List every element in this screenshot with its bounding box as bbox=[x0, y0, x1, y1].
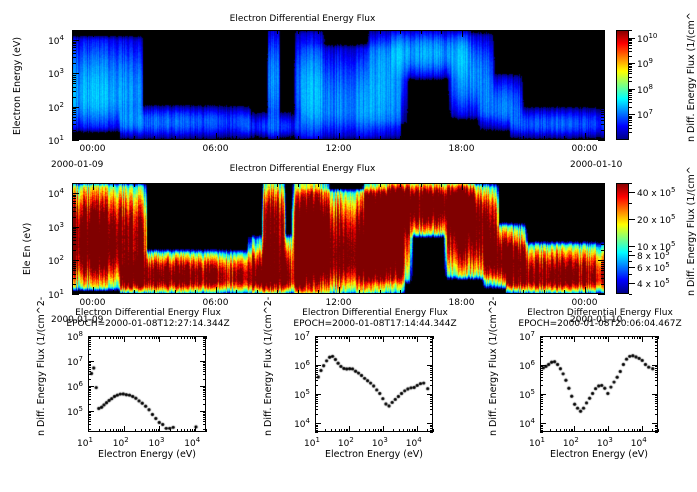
axis-tick bbox=[441, 136, 442, 140]
axis-tick bbox=[629, 203, 632, 204]
axis-tick bbox=[203, 412, 206, 413]
axis-tick bbox=[634, 336, 635, 339]
axis-tick bbox=[603, 429, 604, 432]
axis-tick bbox=[629, 71, 632, 72]
axis-tick bbox=[175, 183, 176, 187]
axis-tick bbox=[598, 294, 605, 295]
axis-tick bbox=[601, 284, 605, 285]
axis-tick bbox=[601, 110, 605, 111]
axis-tick bbox=[430, 345, 433, 346]
axis-tick bbox=[72, 124, 76, 125]
axis-tick bbox=[655, 366, 658, 367]
x-axis-time-label: 00:00 bbox=[77, 144, 109, 154]
axis-tick bbox=[629, 43, 632, 44]
axis-tick bbox=[634, 429, 635, 432]
axis-tick bbox=[113, 136, 114, 140]
axis-tick bbox=[315, 345, 318, 346]
axis-tick bbox=[564, 136, 565, 140]
axis-tick bbox=[629, 261, 632, 262]
axis-tick bbox=[339, 133, 340, 140]
axis-tick bbox=[601, 201, 605, 202]
axis-tick bbox=[655, 414, 658, 415]
axis-tick bbox=[72, 260, 79, 261]
axis-tick bbox=[105, 336, 106, 339]
axis-tick bbox=[315, 414, 318, 415]
axis-tick bbox=[430, 366, 433, 367]
axis-tick bbox=[203, 371, 206, 372]
axis-tick-label: 102 bbox=[48, 101, 64, 114]
axis-tick bbox=[203, 365, 206, 366]
axis-tick bbox=[601, 91, 605, 92]
axis-tick bbox=[540, 403, 543, 404]
axis-tick bbox=[315, 356, 318, 357]
axis-tick bbox=[72, 237, 76, 238]
axis-tick bbox=[540, 385, 543, 386]
axis-tick bbox=[540, 368, 543, 369]
axis-tick bbox=[134, 290, 135, 294]
axis-tick bbox=[72, 110, 76, 111]
axis-tick bbox=[503, 30, 504, 34]
axis-tick bbox=[629, 99, 632, 100]
axis-tick bbox=[564, 30, 565, 34]
axis-tick bbox=[564, 429, 565, 432]
axis-tick bbox=[655, 341, 658, 342]
axis-tick bbox=[540, 406, 543, 407]
axis-tick bbox=[421, 183, 422, 187]
axis-tick bbox=[383, 336, 384, 342]
axis-tick bbox=[88, 342, 91, 343]
axis-tick bbox=[141, 336, 142, 339]
axis-tick bbox=[564, 183, 565, 187]
axis-tick bbox=[629, 219, 632, 220]
axis-tick bbox=[550, 336, 551, 339]
axis-tick bbox=[427, 429, 428, 432]
axis-tick bbox=[421, 30, 422, 34]
axis-tick bbox=[601, 117, 605, 118]
axis-tick bbox=[544, 290, 545, 294]
axis-tick bbox=[629, 132, 632, 133]
axis-tick bbox=[156, 336, 157, 339]
axis-tick bbox=[655, 432, 658, 433]
axis-tick bbox=[315, 395, 318, 396]
x-axis-tick-label: 101 bbox=[304, 436, 320, 449]
axis-tick bbox=[407, 429, 408, 432]
axis-tick bbox=[603, 336, 604, 339]
axis-tick bbox=[601, 198, 605, 199]
axis-tick bbox=[318, 183, 319, 187]
axis-tick bbox=[184, 336, 185, 339]
axis-tick bbox=[93, 183, 94, 190]
axis-tick-label: 103 bbox=[48, 67, 64, 80]
axis-tick bbox=[540, 399, 543, 400]
axis-tick bbox=[601, 230, 605, 231]
axis-tick bbox=[190, 429, 191, 432]
axis-tick bbox=[409, 336, 410, 339]
axis-tick bbox=[550, 429, 551, 432]
axis-tick bbox=[629, 118, 632, 119]
axis-tick bbox=[236, 136, 237, 140]
axis-tick bbox=[177, 429, 178, 432]
axis-tick bbox=[105, 429, 106, 432]
axis-tick bbox=[203, 389, 206, 390]
axis-tick bbox=[629, 274, 632, 275]
axis-tick bbox=[72, 217, 76, 218]
axis-tick bbox=[503, 183, 504, 187]
axis-tick-label: 104 bbox=[48, 187, 64, 200]
axis-tick bbox=[629, 48, 632, 49]
axis-tick bbox=[601, 234, 605, 235]
axis-tick bbox=[375, 336, 376, 339]
axis-tick bbox=[430, 401, 433, 402]
axis-tick bbox=[601, 228, 605, 229]
axis-tick bbox=[72, 87, 76, 88]
axis-tick bbox=[462, 287, 463, 294]
axis-tick bbox=[523, 136, 524, 140]
x-axis-tick-label: 103 bbox=[597, 436, 613, 449]
axis-tick bbox=[540, 342, 543, 343]
axis-tick bbox=[618, 336, 619, 339]
mid-spectrogram-plot bbox=[72, 183, 605, 294]
axis-tick bbox=[601, 262, 605, 263]
axis-tick bbox=[203, 414, 206, 415]
axis-tick bbox=[462, 133, 463, 140]
axis-tick bbox=[72, 278, 76, 279]
axis-tick bbox=[629, 117, 632, 118]
axis-tick bbox=[540, 372, 543, 373]
axis-tick bbox=[194, 336, 195, 339]
axis-tick bbox=[624, 429, 625, 432]
axis-tick bbox=[88, 424, 91, 425]
axis-tick bbox=[601, 112, 605, 113]
axis-tick bbox=[72, 107, 79, 108]
axis-tick bbox=[181, 429, 182, 432]
axis-tick bbox=[393, 429, 394, 432]
axis-tick bbox=[154, 183, 155, 187]
axis-tick bbox=[560, 429, 561, 432]
axis-tick bbox=[637, 429, 638, 432]
axis-tick bbox=[601, 203, 605, 204]
axis-tick bbox=[335, 336, 336, 339]
axis-tick bbox=[315, 385, 318, 386]
axis-tick-label: 106 bbox=[294, 359, 310, 372]
axis-tick bbox=[430, 342, 433, 343]
axis-tick bbox=[72, 244, 76, 245]
axis-tick-label: 107 bbox=[637, 108, 653, 121]
axis-tick bbox=[154, 429, 155, 432]
axis-tick bbox=[430, 370, 433, 371]
axis-tick bbox=[629, 125, 632, 126]
axis-tick bbox=[652, 336, 653, 339]
top-spectrogram-ylabel: Electron Energy (eV) bbox=[12, 37, 23, 135]
axis-tick bbox=[540, 414, 543, 415]
axis-tick bbox=[628, 336, 629, 339]
axis-tick bbox=[540, 426, 541, 432]
axis-tick bbox=[158, 336, 159, 339]
spectrum-ylabel: n Diff. Energy Flux (1/(cm^2- bbox=[263, 297, 274, 436]
axis-tick bbox=[381, 429, 382, 432]
axis-tick bbox=[430, 426, 433, 427]
axis-tick bbox=[417, 426, 418, 432]
axis-tick bbox=[430, 399, 433, 400]
axis-tick bbox=[624, 336, 625, 339]
axis-tick bbox=[349, 426, 350, 432]
axis-tick bbox=[655, 395, 658, 396]
axis-tick bbox=[175, 290, 176, 294]
axis-tick bbox=[72, 83, 76, 84]
axis-tick bbox=[124, 336, 125, 342]
axis-tick bbox=[601, 45, 605, 46]
axis-tick bbox=[93, 30, 94, 37]
x-axis-tick-label: 104 bbox=[184, 436, 200, 449]
axis-tick bbox=[608, 426, 609, 432]
axis-tick bbox=[380, 30, 381, 34]
axis-tick bbox=[154, 136, 155, 140]
axis-tick-label: 108 bbox=[637, 83, 653, 96]
axis-tick bbox=[658, 336, 659, 339]
axis-tick bbox=[315, 368, 318, 369]
axis-tick bbox=[584, 336, 585, 339]
axis-tick bbox=[629, 255, 632, 256]
axis-tick bbox=[655, 348, 658, 349]
axis-tick bbox=[601, 57, 605, 58]
axis-tick bbox=[598, 260, 605, 261]
axis-tick-label: 107 bbox=[294, 330, 310, 343]
axis-tick bbox=[118, 429, 119, 432]
axis-tick bbox=[601, 75, 605, 76]
axis-tick bbox=[430, 374, 433, 375]
axis-tick bbox=[655, 370, 658, 371]
axis-tick bbox=[359, 136, 360, 140]
axis-tick bbox=[93, 133, 94, 140]
axis-tick bbox=[365, 336, 366, 339]
axis-tick bbox=[315, 370, 318, 371]
axis-tick bbox=[72, 228, 76, 229]
axis-tick-label: 105 bbox=[294, 388, 310, 401]
axis-tick bbox=[203, 374, 206, 375]
axis-tick bbox=[629, 56, 632, 57]
axis-tick bbox=[72, 79, 76, 80]
x-axis-time-label: 06:00 bbox=[200, 144, 232, 154]
axis-tick bbox=[381, 336, 382, 339]
axis-tick bbox=[585, 183, 586, 190]
axis-tick bbox=[598, 140, 605, 141]
axis-tick bbox=[315, 366, 318, 367]
axis-tick-label: 102 bbox=[48, 254, 64, 267]
axis-tick bbox=[629, 128, 632, 129]
axis-tick bbox=[642, 426, 643, 432]
axis-tick bbox=[72, 266, 76, 267]
axis-tick bbox=[540, 370, 543, 371]
axis-tick bbox=[380, 290, 381, 294]
axis-tick bbox=[655, 339, 658, 340]
axis-tick bbox=[629, 246, 632, 247]
x-axis-time-label: 06:00 bbox=[200, 298, 232, 308]
axis-tick bbox=[113, 30, 114, 34]
axis-tick bbox=[629, 183, 632, 184]
top-spectrogram-plot bbox=[72, 30, 605, 140]
axis-tick bbox=[430, 403, 433, 404]
axis-tick bbox=[120, 429, 121, 432]
axis-tick bbox=[88, 394, 91, 395]
axis-tick bbox=[598, 336, 599, 339]
axis-tick bbox=[629, 122, 632, 123]
axis-tick bbox=[257, 183, 258, 187]
axis-tick bbox=[601, 81, 605, 82]
axis-tick bbox=[655, 345, 658, 346]
axis-tick bbox=[88, 369, 91, 370]
axis-tick bbox=[277, 183, 278, 187]
axis-tick bbox=[88, 389, 91, 390]
axis-tick bbox=[88, 354, 91, 355]
x-axis-time-label: 00:00 bbox=[77, 298, 109, 308]
axis-tick bbox=[601, 130, 605, 131]
axis-tick bbox=[195, 426, 196, 432]
axis-tick bbox=[601, 244, 605, 245]
axis-tick bbox=[601, 207, 605, 208]
x-axis-time-label: 00:00 bbox=[569, 298, 601, 308]
axis-tick bbox=[88, 412, 91, 413]
axis-tick bbox=[601, 83, 605, 84]
axis-tick bbox=[257, 30, 258, 34]
axis-tick bbox=[556, 429, 557, 432]
axis-tick bbox=[88, 387, 91, 388]
axis-tick bbox=[203, 415, 206, 416]
axis-tick bbox=[658, 429, 659, 432]
mid-colorbar bbox=[616, 183, 629, 294]
axis-tick bbox=[601, 97, 605, 98]
axis-tick bbox=[629, 93, 632, 94]
axis-tick bbox=[203, 364, 206, 365]
axis-tick bbox=[72, 43, 76, 44]
spectrum-ylabel: n Diff. Energy Flux (1/(cm^2- bbox=[36, 297, 47, 436]
axis-tick bbox=[373, 429, 374, 432]
axis-tick bbox=[72, 112, 76, 113]
axis-tick bbox=[149, 336, 150, 339]
axis-tick bbox=[407, 336, 408, 339]
axis-tick bbox=[598, 73, 605, 74]
axis-tick bbox=[203, 419, 206, 420]
axis-tick bbox=[655, 356, 658, 357]
axis-tick bbox=[403, 336, 404, 339]
axis-tick bbox=[430, 341, 433, 342]
axis-tick bbox=[277, 30, 278, 34]
axis-tick bbox=[177, 336, 178, 339]
axis-tick bbox=[72, 130, 76, 131]
axis-tick bbox=[629, 77, 632, 78]
axis-tick bbox=[72, 195, 76, 196]
axis-tick bbox=[629, 30, 632, 31]
axis-tick bbox=[540, 397, 543, 398]
axis-tick bbox=[318, 290, 319, 294]
mid-spectrogram-title: Electron Differential Energy Flux bbox=[0, 164, 605, 174]
axis-tick bbox=[72, 97, 76, 98]
axis-tick bbox=[72, 203, 76, 204]
axis-tick bbox=[629, 81, 632, 82]
axis-tick bbox=[331, 429, 332, 432]
spectrum-xlabel: Electron Energy (eV) bbox=[316, 449, 432, 460]
axis-tick bbox=[629, 40, 632, 41]
axis-tick bbox=[88, 336, 89, 342]
axis-tick bbox=[122, 336, 123, 339]
axis-tick bbox=[430, 339, 433, 340]
axis-tick bbox=[257, 136, 258, 140]
axis-tick bbox=[359, 30, 360, 34]
axis-tick-label: 105 bbox=[67, 405, 83, 418]
axis-tick bbox=[601, 124, 605, 125]
axis-tick bbox=[606, 429, 607, 432]
axis-tick bbox=[187, 429, 188, 432]
axis-tick bbox=[598, 429, 599, 432]
axis-tick bbox=[601, 266, 605, 267]
axis-tick bbox=[655, 406, 658, 407]
axis-tick bbox=[124, 426, 125, 432]
axis-tick bbox=[72, 114, 76, 115]
axis-tick bbox=[72, 40, 79, 41]
axis-tick bbox=[118, 336, 119, 339]
axis-tick bbox=[430, 432, 433, 433]
axis-tick bbox=[566, 336, 567, 339]
axis-tick bbox=[629, 97, 632, 98]
axis-tick bbox=[383, 426, 384, 432]
axis-tick bbox=[315, 426, 316, 432]
axis-tick bbox=[88, 344, 91, 345]
axis-tick bbox=[399, 336, 400, 339]
axis-tick bbox=[181, 336, 182, 339]
axis-tick bbox=[72, 108, 76, 109]
axis-tick bbox=[482, 183, 483, 187]
axis-tick bbox=[88, 414, 91, 415]
axis-tick bbox=[359, 183, 360, 187]
axis-tick bbox=[601, 77, 605, 78]
axis-tick bbox=[315, 336, 316, 342]
axis-tick bbox=[315, 342, 318, 343]
axis-tick bbox=[655, 397, 658, 398]
axis-tick bbox=[315, 401, 318, 402]
axis-tick bbox=[430, 377, 433, 378]
axis-tick bbox=[601, 30, 605, 31]
axis-tick bbox=[88, 365, 91, 366]
axis-tick bbox=[88, 367, 91, 368]
mid-spectrogram-ylabel: Ele En (eV) bbox=[22, 223, 33, 275]
axis-tick bbox=[72, 198, 76, 199]
axis-tick bbox=[629, 120, 632, 121]
axis-tick bbox=[572, 336, 573, 339]
axis-tick bbox=[629, 51, 632, 52]
axis-tick bbox=[642, 336, 643, 342]
axis-tick bbox=[601, 43, 605, 44]
axis-tick bbox=[72, 45, 76, 46]
axis-tick bbox=[652, 423, 658, 424]
axis-tick bbox=[158, 429, 159, 432]
axis-tick bbox=[601, 274, 605, 275]
axis-tick bbox=[203, 379, 206, 380]
axis-tick-label: 106 bbox=[519, 359, 535, 372]
axis-tick bbox=[601, 79, 605, 80]
axis-tick bbox=[598, 227, 605, 228]
axis-tick bbox=[574, 336, 575, 342]
axis-tick bbox=[257, 290, 258, 294]
x-axis-tick-label: 103 bbox=[372, 436, 388, 449]
axis-tick bbox=[503, 290, 504, 294]
axis-tick bbox=[584, 429, 585, 432]
axis-tick-label: 101 bbox=[48, 134, 64, 147]
axis-tick bbox=[601, 240, 605, 241]
axis-tick bbox=[315, 374, 318, 375]
axis-tick-label: 105 bbox=[519, 388, 535, 401]
axis-tick bbox=[601, 268, 605, 269]
axis-tick bbox=[574, 426, 575, 432]
axis-tick bbox=[380, 136, 381, 140]
